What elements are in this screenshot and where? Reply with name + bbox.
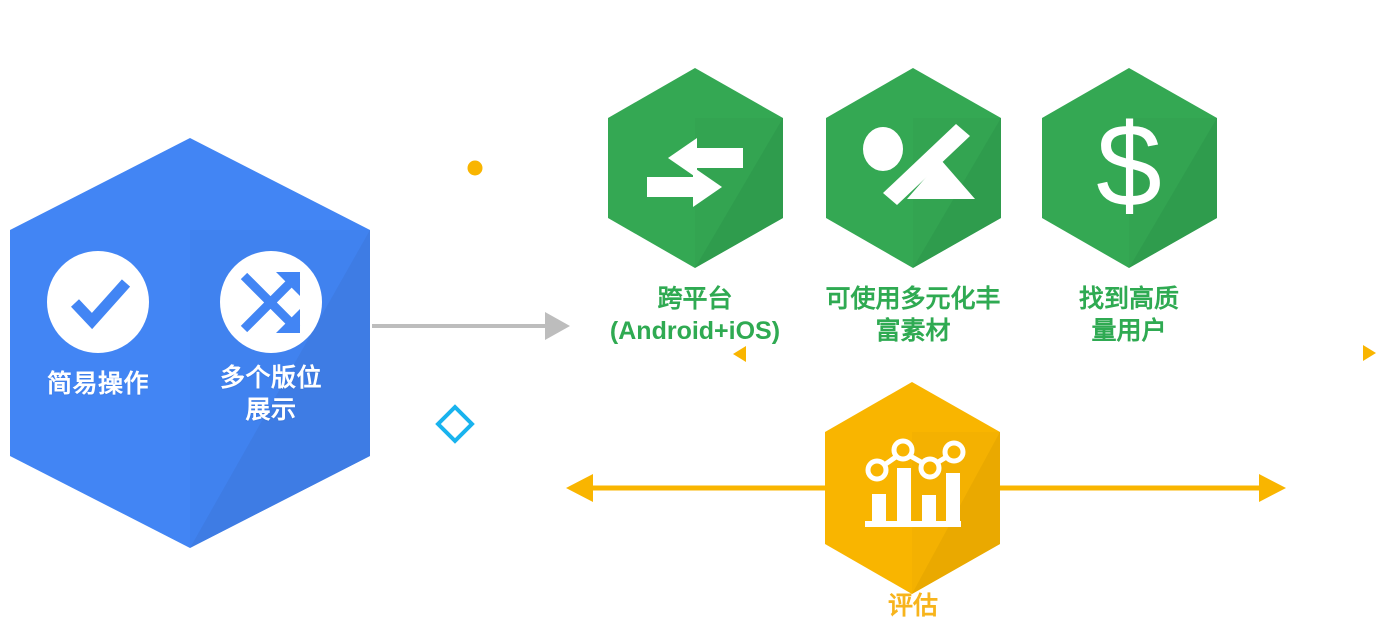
dollar-sign-icon: $ <box>1096 100 1162 232</box>
blue-feature-label-2: 多个版位 展示 <box>191 362 351 426</box>
yellow-axis-arrow-right <box>995 474 1286 502</box>
orange-dot <box>468 161 483 176</box>
yellow-triangle-right <box>1363 345 1376 361</box>
gray-flow-arrow <box>372 312 570 340</box>
shuffle-circle-icon <box>220 251 322 353</box>
benefit-label-3: 找到高质 量用户 <box>1009 283 1249 347</box>
svg-text:$: $ <box>1096 100 1162 232</box>
yellow-axis-arrow-left <box>566 474 830 502</box>
benefit-label-1: 跨平台 (Android+iOS) <box>575 283 815 347</box>
benefit-label-2: 可使用多元化丰 富素材 <box>793 283 1033 347</box>
blue-hexagon[interactable] <box>10 138 370 548</box>
check-circle-icon <box>47 251 149 353</box>
infographic-canvas: $ <box>0 0 1384 641</box>
blue-feature-label-1: 简易操作 <box>18 368 178 400</box>
measure-label: 评估 <box>837 590 989 622</box>
yellow-hexagon[interactable] <box>825 382 1000 594</box>
green-hexagon-1[interactable] <box>608 68 783 268</box>
yellow-triangle-left <box>733 346 746 362</box>
cyan-diamond <box>438 407 472 441</box>
green-hexagon-3[interactable]: $ <box>1042 68 1217 268</box>
green-hexagon-2[interactable] <box>826 68 1001 268</box>
